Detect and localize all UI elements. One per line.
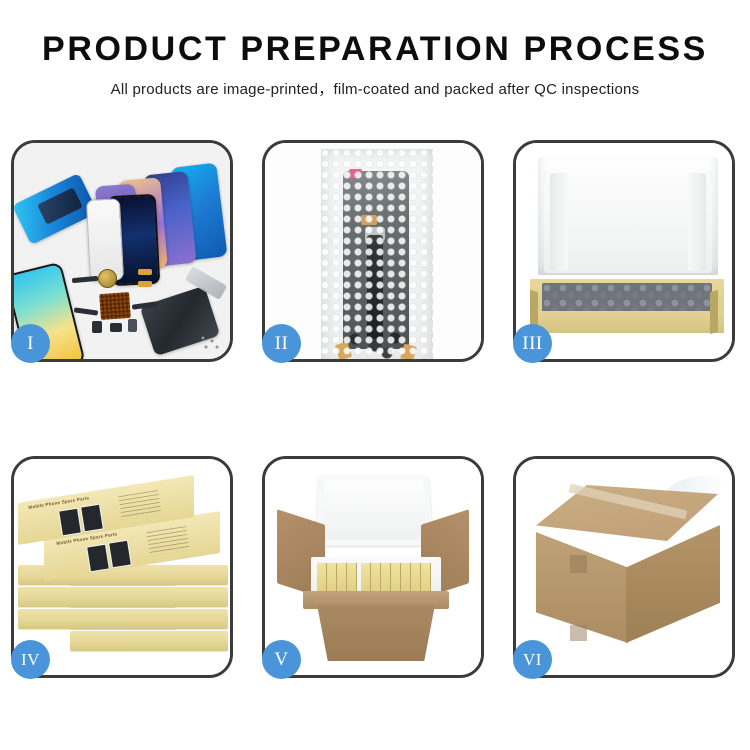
tape-icon: [361, 215, 377, 225]
bubble-wrap-scene: [265, 143, 481, 359]
speaker-coil-icon: [98, 269, 117, 288]
bubble-wrapped-contents-icon: [542, 283, 712, 313]
stacked-box: [70, 631, 228, 651]
connector-part-icon: [110, 323, 122, 332]
box-phone-image-icon: [80, 504, 104, 533]
step-1-image: [14, 143, 230, 359]
step-badge-6: VI: [513, 640, 552, 679]
bubble-wrap-bag-icon: [321, 149, 433, 359]
process-step-panel-2[interactable]: II: [262, 140, 484, 362]
page-title: PRODUCT PREPARATION PROCESS: [0, 30, 750, 69]
carton-right-face-icon: [626, 525, 720, 643]
stacked-box: [70, 587, 228, 607]
tape-icon: [335, 341, 352, 359]
step-badge-4: IV: [11, 640, 50, 679]
tray-front-panel-icon: [530, 311, 724, 333]
tape-icon: [400, 344, 417, 359]
lid-flap-right-icon: [688, 173, 706, 271]
tray-lip-right-icon: [710, 290, 718, 334]
step-badge-3: III: [513, 324, 552, 363]
process-step-panel-1[interactable]: I: [11, 140, 233, 362]
carton-top-face-icon: [536, 485, 718, 541]
screws-icon: [200, 335, 222, 351]
box-phone-image-icon: [108, 540, 132, 569]
connector-part-icon: [92, 321, 102, 333]
process-step-panel-3[interactable]: III: [513, 140, 735, 362]
gold-contact-icon: [138, 281, 152, 287]
sealed-carton-scene: [516, 459, 732, 675]
carton-tab-icon: [570, 625, 587, 641]
stacked-box: [70, 609, 228, 629]
phone-parts-scene: [14, 143, 230, 359]
flex-cable-icon: [72, 276, 98, 283]
box-phone-image-icon: [58, 508, 82, 537]
lcd-screen-icon: [343, 171, 409, 349]
step-badge-1: I: [11, 324, 50, 363]
step-badge-5: V: [262, 640, 301, 679]
connector-part-icon: [128, 319, 137, 332]
lid-flap-left-icon: [550, 173, 568, 271]
kraft-tray-scene: [516, 143, 732, 359]
connector-icon: [365, 227, 385, 241]
foam-lid-icon: [538, 157, 718, 275]
step-6-image: [516, 459, 732, 675]
component-cluster-icon: [345, 329, 411, 359]
step-badge-2: II: [262, 324, 301, 363]
step-3-image: [516, 143, 732, 359]
step-2-image: [265, 143, 481, 359]
gold-contact-icon: [138, 269, 152, 275]
page-subtitle: All products are image-printed，film-coat…: [0, 78, 750, 99]
pink-label-icon: [349, 169, 362, 178]
step-4-image: Mobile Phone Spare Parts Mobile Phone Sp…: [14, 459, 230, 675]
flex-cable-icon: [74, 307, 98, 315]
foam-lid-icon: [315, 475, 433, 546]
flex-cable-icon: [367, 235, 383, 339]
process-steps-grid: I II: [11, 140, 739, 678]
carton-tab-icon: [570, 555, 587, 573]
step-5-image: [265, 459, 481, 675]
carton-body-icon: [309, 605, 443, 661]
box-phone-image-icon: [86, 544, 110, 573]
process-step-panel-6[interactable]: VI: [513, 456, 735, 678]
process-step-panel-5[interactable]: V: [262, 456, 484, 678]
open-carton-scene: [265, 459, 481, 675]
process-step-panel-4[interactable]: Mobile Phone Spare Parts Mobile Phone Sp…: [11, 456, 233, 678]
box-stack-scene: Mobile Phone Spare Parts Mobile Phone Sp…: [14, 459, 230, 675]
chip-grid-icon: [99, 292, 131, 320]
page-header: PRODUCT PREPARATION PROCESS All products…: [0, 0, 750, 99]
